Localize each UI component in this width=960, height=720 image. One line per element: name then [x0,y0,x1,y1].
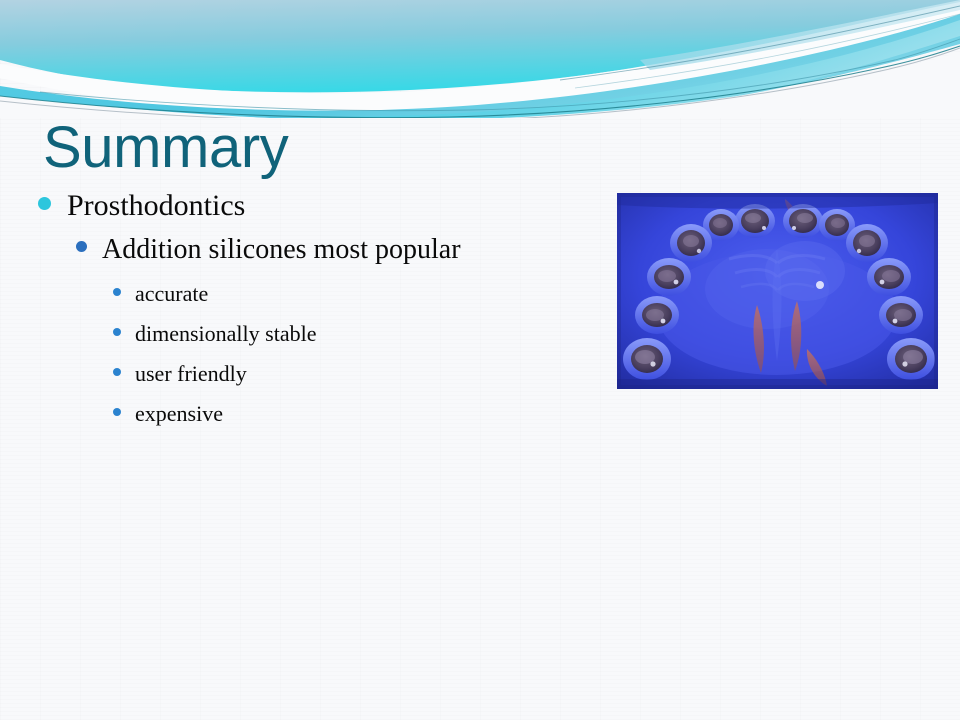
bullet-expensive: expensive [0,394,600,434]
slide-title: Summary [43,118,288,179]
blue-silicone-dental-impression-photo [617,193,938,389]
bullet-dot-icon [113,408,121,416]
bullet-label: dimensionally stable [135,314,316,354]
bullet-dot-icon [113,288,121,296]
bullet-prosthodontics: Prosthodontics [0,186,600,226]
bullet-dot-icon [113,368,121,376]
bullet-dimensionally-stable: dimensionally stable [0,314,600,354]
flow-theme-header-wave [0,0,960,118]
bullet-label: Prosthodontics [67,186,245,226]
bullet-label: user friendly [135,354,247,394]
bullet-label: Addition silicones most popular [102,226,461,274]
bullet-dot-icon [76,241,87,252]
slide-body-content-placeholder: Prosthodontics Addition silicones most p… [0,186,600,434]
bullet-label: accurate [135,274,208,314]
presentation-slide: Summary Prosthodontics Addition silicone… [0,0,960,720]
bullet-dot-icon [38,197,51,210]
bullet-dot-icon [113,328,121,336]
bullet-user-friendly: user friendly [0,354,600,394]
bullet-accurate: accurate [0,274,600,314]
bullet-addition-silicones-most-popular: Addition silicones most popular [0,226,600,274]
bullet-label: expensive [135,394,223,434]
